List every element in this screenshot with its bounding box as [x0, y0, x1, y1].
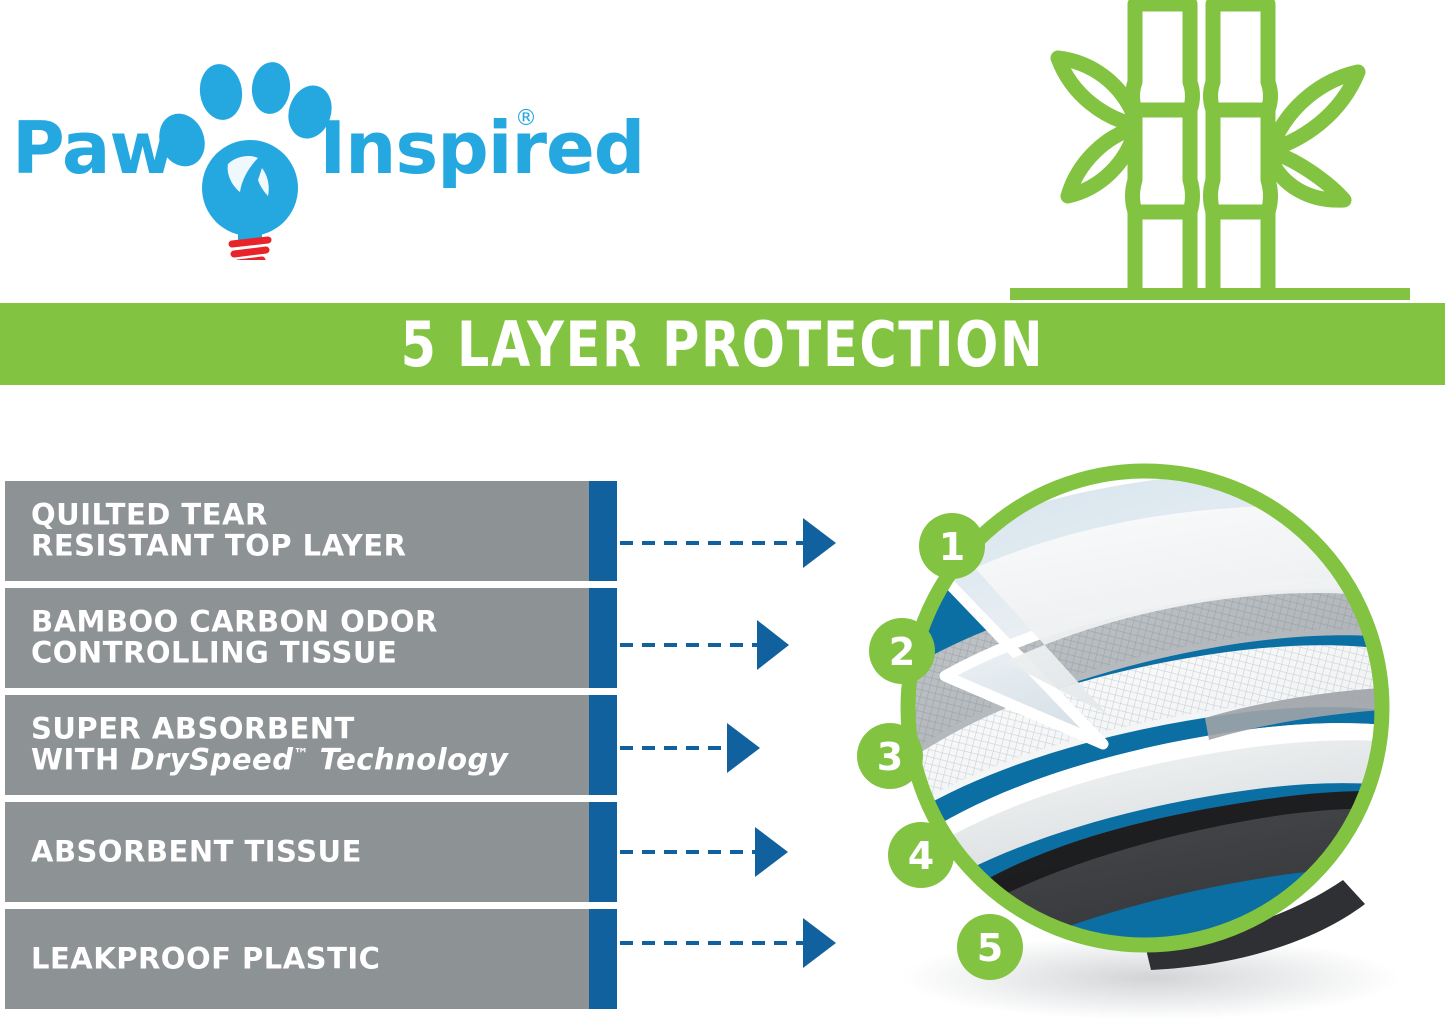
dryspeed-brandmark: DrySpeed [130, 743, 293, 777]
layer-label-bar-4[interactable]: ABSORBENT TISSUE [5, 802, 617, 902]
section-banner: 5 LAYER PROTECTION [0, 303, 1445, 385]
layer-label-bar-3[interactable]: SUPER ABSORBENTWITH DrySpeed™ Technology [5, 695, 617, 795]
brand-logo: Paw Inspired ® [10, 60, 550, 230]
trademark-icon: ™ [293, 745, 309, 763]
arrow-head-2 [757, 620, 789, 670]
arrow-head-3 [727, 723, 760, 773]
bar-blue-cap-2 [589, 588, 617, 688]
layer-label-list: QUILTED TEARRESISTANT TOP LAYER BAMBOO C… [5, 481, 617, 1016]
layer-badge-4[interactable]: 4 [888, 822, 954, 888]
layer-badge-3-number: 3 [877, 735, 903, 779]
technology-word: Technology [320, 743, 509, 777]
bulb-base-icon [232, 240, 268, 260]
layer-label-text-4: ABSORBENT TISSUE [31, 836, 362, 867]
layer-label-bar-5[interactable]: LEAKPROOF PLASTIC [5, 909, 617, 1009]
brand-wordmark: Paw Inspired [12, 112, 644, 184]
layer-label-bar-1[interactable]: QUILTED TEARRESISTANT TOP LAYER [5, 481, 617, 581]
layer-label-bar-2[interactable]: BAMBOO CARBON ODORCONTROLLING TISSUE [5, 588, 617, 688]
brand-word-inspired: Inspired [319, 106, 644, 190]
layer-badge-2[interactable]: 2 [869, 618, 935, 684]
bar-blue-cap-1 [589, 481, 617, 581]
layer-badge-5-number: 5 [977, 926, 1003, 970]
layer-badge-5[interactable]: 5 [957, 914, 1023, 980]
registered-trademark-icon: ® [515, 106, 537, 131]
brand-word-paw: Paw [12, 106, 175, 190]
bar-blue-cap-5 [589, 909, 617, 1009]
layer-label-text-5: LEAKPROOF PLASTIC [31, 943, 380, 974]
layer-label-text-3: SUPER ABSORBENTWITH DrySpeed™ Technology [31, 714, 508, 777]
layer-badge-2-number: 2 [889, 630, 915, 674]
page-title: 5 LAYER PROTECTION [401, 308, 1045, 381]
bar-blue-cap-4 [589, 802, 617, 902]
layer-stack-diagram: 1 2 3 4 5 [845, 418, 1445, 1035]
bamboo-stalks-icon [1010, 0, 1410, 300]
bar-blue-cap-3 [589, 695, 617, 795]
infographic-canvas: Paw Inspired ® 5 LAYER PROTECTION [0, 0, 1445, 1035]
layer-badge-1[interactable]: 1 [919, 513, 985, 579]
layer-badge-3[interactable]: 3 [857, 723, 923, 789]
arrow-head-5 [803, 918, 836, 968]
arrow-head-4 [755, 827, 788, 877]
layer-label-text-1: QUILTED TEARRESISTANT TOP LAYER [31, 500, 406, 563]
layer-label-text-2: BAMBOO CARBON ODORCONTROLLING TISSUE [31, 607, 438, 670]
layer-badge-1-number: 1 [939, 525, 965, 569]
layer-badge-4-number: 4 [908, 834, 934, 878]
arrow-head-1 [803, 518, 836, 568]
